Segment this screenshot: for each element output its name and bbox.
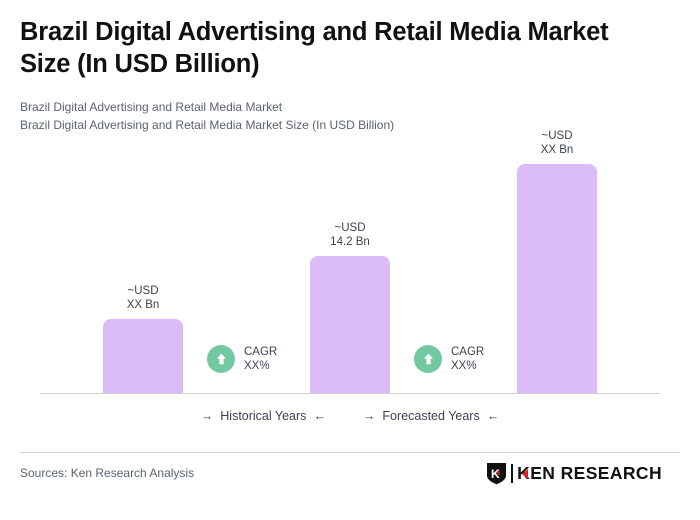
logo-divider-bar	[511, 464, 513, 483]
bar-value-label-historical: ~USD XX Bn	[103, 284, 183, 313]
bar-current[interactable]	[310, 256, 390, 393]
logo-letter-k: K	[517, 465, 530, 483]
footer-divider	[20, 452, 680, 453]
arrow-right-icon: →	[363, 409, 376, 423]
period-label-historical: Historical Years	[220, 409, 306, 423]
arrow-left-icon: ←	[487, 409, 500, 423]
bar-value-label-forecast: ~USD XX Bn	[517, 129, 597, 158]
arrow-right-icon: →	[201, 409, 214, 423]
cagr-marker-forecast: CAGR XX%	[414, 345, 484, 374]
bar-value-amount: 14.2 Bn	[310, 235, 390, 249]
bar-forecast[interactable]	[517, 164, 597, 393]
logo-wordmark-rest: EN RESEARCH	[530, 465, 662, 483]
chart-plot-area: ~USD XX Bn ~USD 14.2 Bn ~USD XX Bn CAGR	[0, 0, 700, 520]
cagr-value: XX%	[244, 359, 277, 373]
arrow-up-icon	[414, 345, 442, 373]
bar-value-amount: XX Bn	[517, 143, 597, 157]
chart-baseline-axis	[40, 393, 660, 394]
period-historical: → Historical Years ←	[201, 409, 326, 423]
period-forecasted: → Forecasted Years ←	[363, 409, 499, 423]
ken-research-logo: K K EN RESEARCH	[486, 462, 662, 485]
period-axis-labels: → Historical Years ← → Forecasted Years …	[0, 409, 700, 423]
cagr-label-forecast: CAGR XX%	[451, 345, 484, 374]
chart-page: Brazil Digital Advertising and Retail Me…	[0, 0, 700, 520]
sources-note: Sources: Ken Research Analysis	[20, 466, 194, 480]
bar-value-prefix: ~USD	[310, 221, 390, 235]
cagr-value: XX%	[451, 359, 484, 373]
cagr-title: CAGR	[244, 345, 277, 359]
arrow-left-icon: ←	[313, 409, 326, 423]
cagr-title: CAGR	[451, 345, 484, 359]
bar-value-label-current: ~USD 14.2 Bn	[310, 221, 390, 250]
period-label-forecasted: Forecasted Years	[382, 409, 479, 423]
bar-value-prefix: ~USD	[517, 129, 597, 143]
logo-wordmark: K EN RESEARCH	[517, 465, 662, 483]
cagr-label-historical: CAGR XX%	[244, 345, 277, 374]
ken-research-shield-icon: K	[486, 462, 507, 485]
arrow-up-icon	[207, 345, 235, 373]
cagr-marker-historical: CAGR XX%	[207, 345, 277, 374]
bar-value-prefix: ~USD	[103, 284, 183, 298]
bar-value-amount: XX Bn	[103, 298, 183, 312]
bar-historical[interactable]	[103, 319, 183, 393]
logo-accent-triangle-icon	[522, 469, 528, 479]
